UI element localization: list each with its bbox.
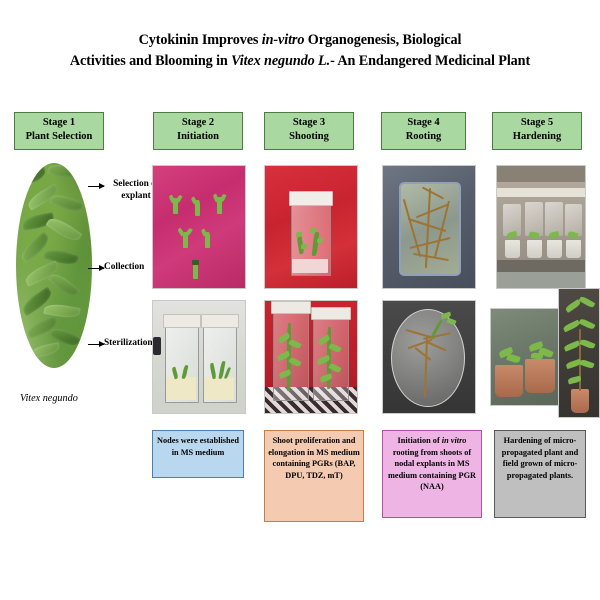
stage-2-number: Stage 2 <box>154 116 242 130</box>
title-line2-part-b: - An Endangered Medicinal Plant <box>330 53 530 69</box>
stage-2-name: Initiation <box>154 130 242 144</box>
title-line-2: Activities and Blooming in Vitex negundo… <box>0 51 600 72</box>
title-line1-italic: in-vitro <box>262 32 305 48</box>
stage-header-4: Stage 4 Rooting <box>381 112 466 150</box>
title-line1-part-b: Organogenesis, Biological <box>304 32 461 48</box>
caption-box-initiation: Nodes were established in MS medium <box>152 430 244 478</box>
photo-stage2-culture-vessels <box>152 300 246 414</box>
title-line1-part-a: Cytokinin Improves <box>139 32 262 48</box>
species-caption: Vitex negundo <box>20 393 78 404</box>
caption-rooting-part-b: rooting from shoots of nodal explants in… <box>388 448 476 492</box>
page-title: Cytokinin Improves in-vitro Organogenesi… <box>0 30 600 72</box>
stage-header-2: Stage 2 Initiation <box>153 112 243 150</box>
caption-hardening-text: Hardening of micro-propagated plant and … <box>502 436 578 480</box>
photo-stage5-potted-plants <box>490 308 562 406</box>
caption-box-shooting: Shoot proliferation and elongation in MS… <box>264 430 364 522</box>
stage-1-number: Stage 1 <box>15 116 103 130</box>
stage-5-number: Stage 5 <box>493 116 581 130</box>
arrow-collection <box>88 268 104 269</box>
caption-rooting-part-a: Initiation of <box>398 436 442 445</box>
stage-4-name: Rooting <box>382 130 465 144</box>
stage-header-3: Stage 3 Shooting <box>264 112 354 150</box>
photo-stage3-shoot-vessel <box>264 165 358 289</box>
title-line2-italic: Vitex negundo L. <box>231 53 330 69</box>
photo-stage4-rooting-container <box>382 165 476 289</box>
stage-3-number: Stage 3 <box>265 116 353 130</box>
stage-header-1: Stage 1 Plant Selection <box>14 112 104 150</box>
caption-shooting-text: Shoot proliferation and elongation in MS… <box>268 436 360 480</box>
caption-initiation-text: Nodes were established in MS medium <box>157 436 239 457</box>
stage-5-name: Hardening <box>493 130 581 144</box>
graphical-abstract: Cytokinin Improves in-vitro Organogenesi… <box>0 0 600 600</box>
stage-3-name: Shooting <box>265 130 353 144</box>
photo-stage2-explants <box>152 165 246 289</box>
photo-stage3-proliferated-shoots <box>264 300 358 414</box>
arrow-selection-of-explant <box>88 186 104 187</box>
caption-box-hardening: Hardening of micro-propagated plant and … <box>494 430 586 518</box>
stage-1-name: Plant Selection <box>15 130 103 144</box>
title-line2-part-a: Activities and Blooming in <box>70 53 231 69</box>
stage-4-number: Stage 4 <box>382 116 465 130</box>
caption-rooting-italic: in vitro <box>442 436 467 445</box>
plant-photo-oval <box>16 163 92 368</box>
photo-stage5-field-grown-plant <box>558 288 600 418</box>
title-line-1: Cytokinin Improves in-vitro Organogenesi… <box>0 30 600 51</box>
arrow-sterilization <box>88 344 104 345</box>
caption-box-rooting: Initiation of in vitro rooting from shoo… <box>382 430 482 518</box>
stage-header-5: Stage 5 Hardening <box>492 112 582 150</box>
photo-stage4-petri-dish <box>382 300 476 414</box>
photo-stage5-hardening-shelf <box>496 165 586 289</box>
